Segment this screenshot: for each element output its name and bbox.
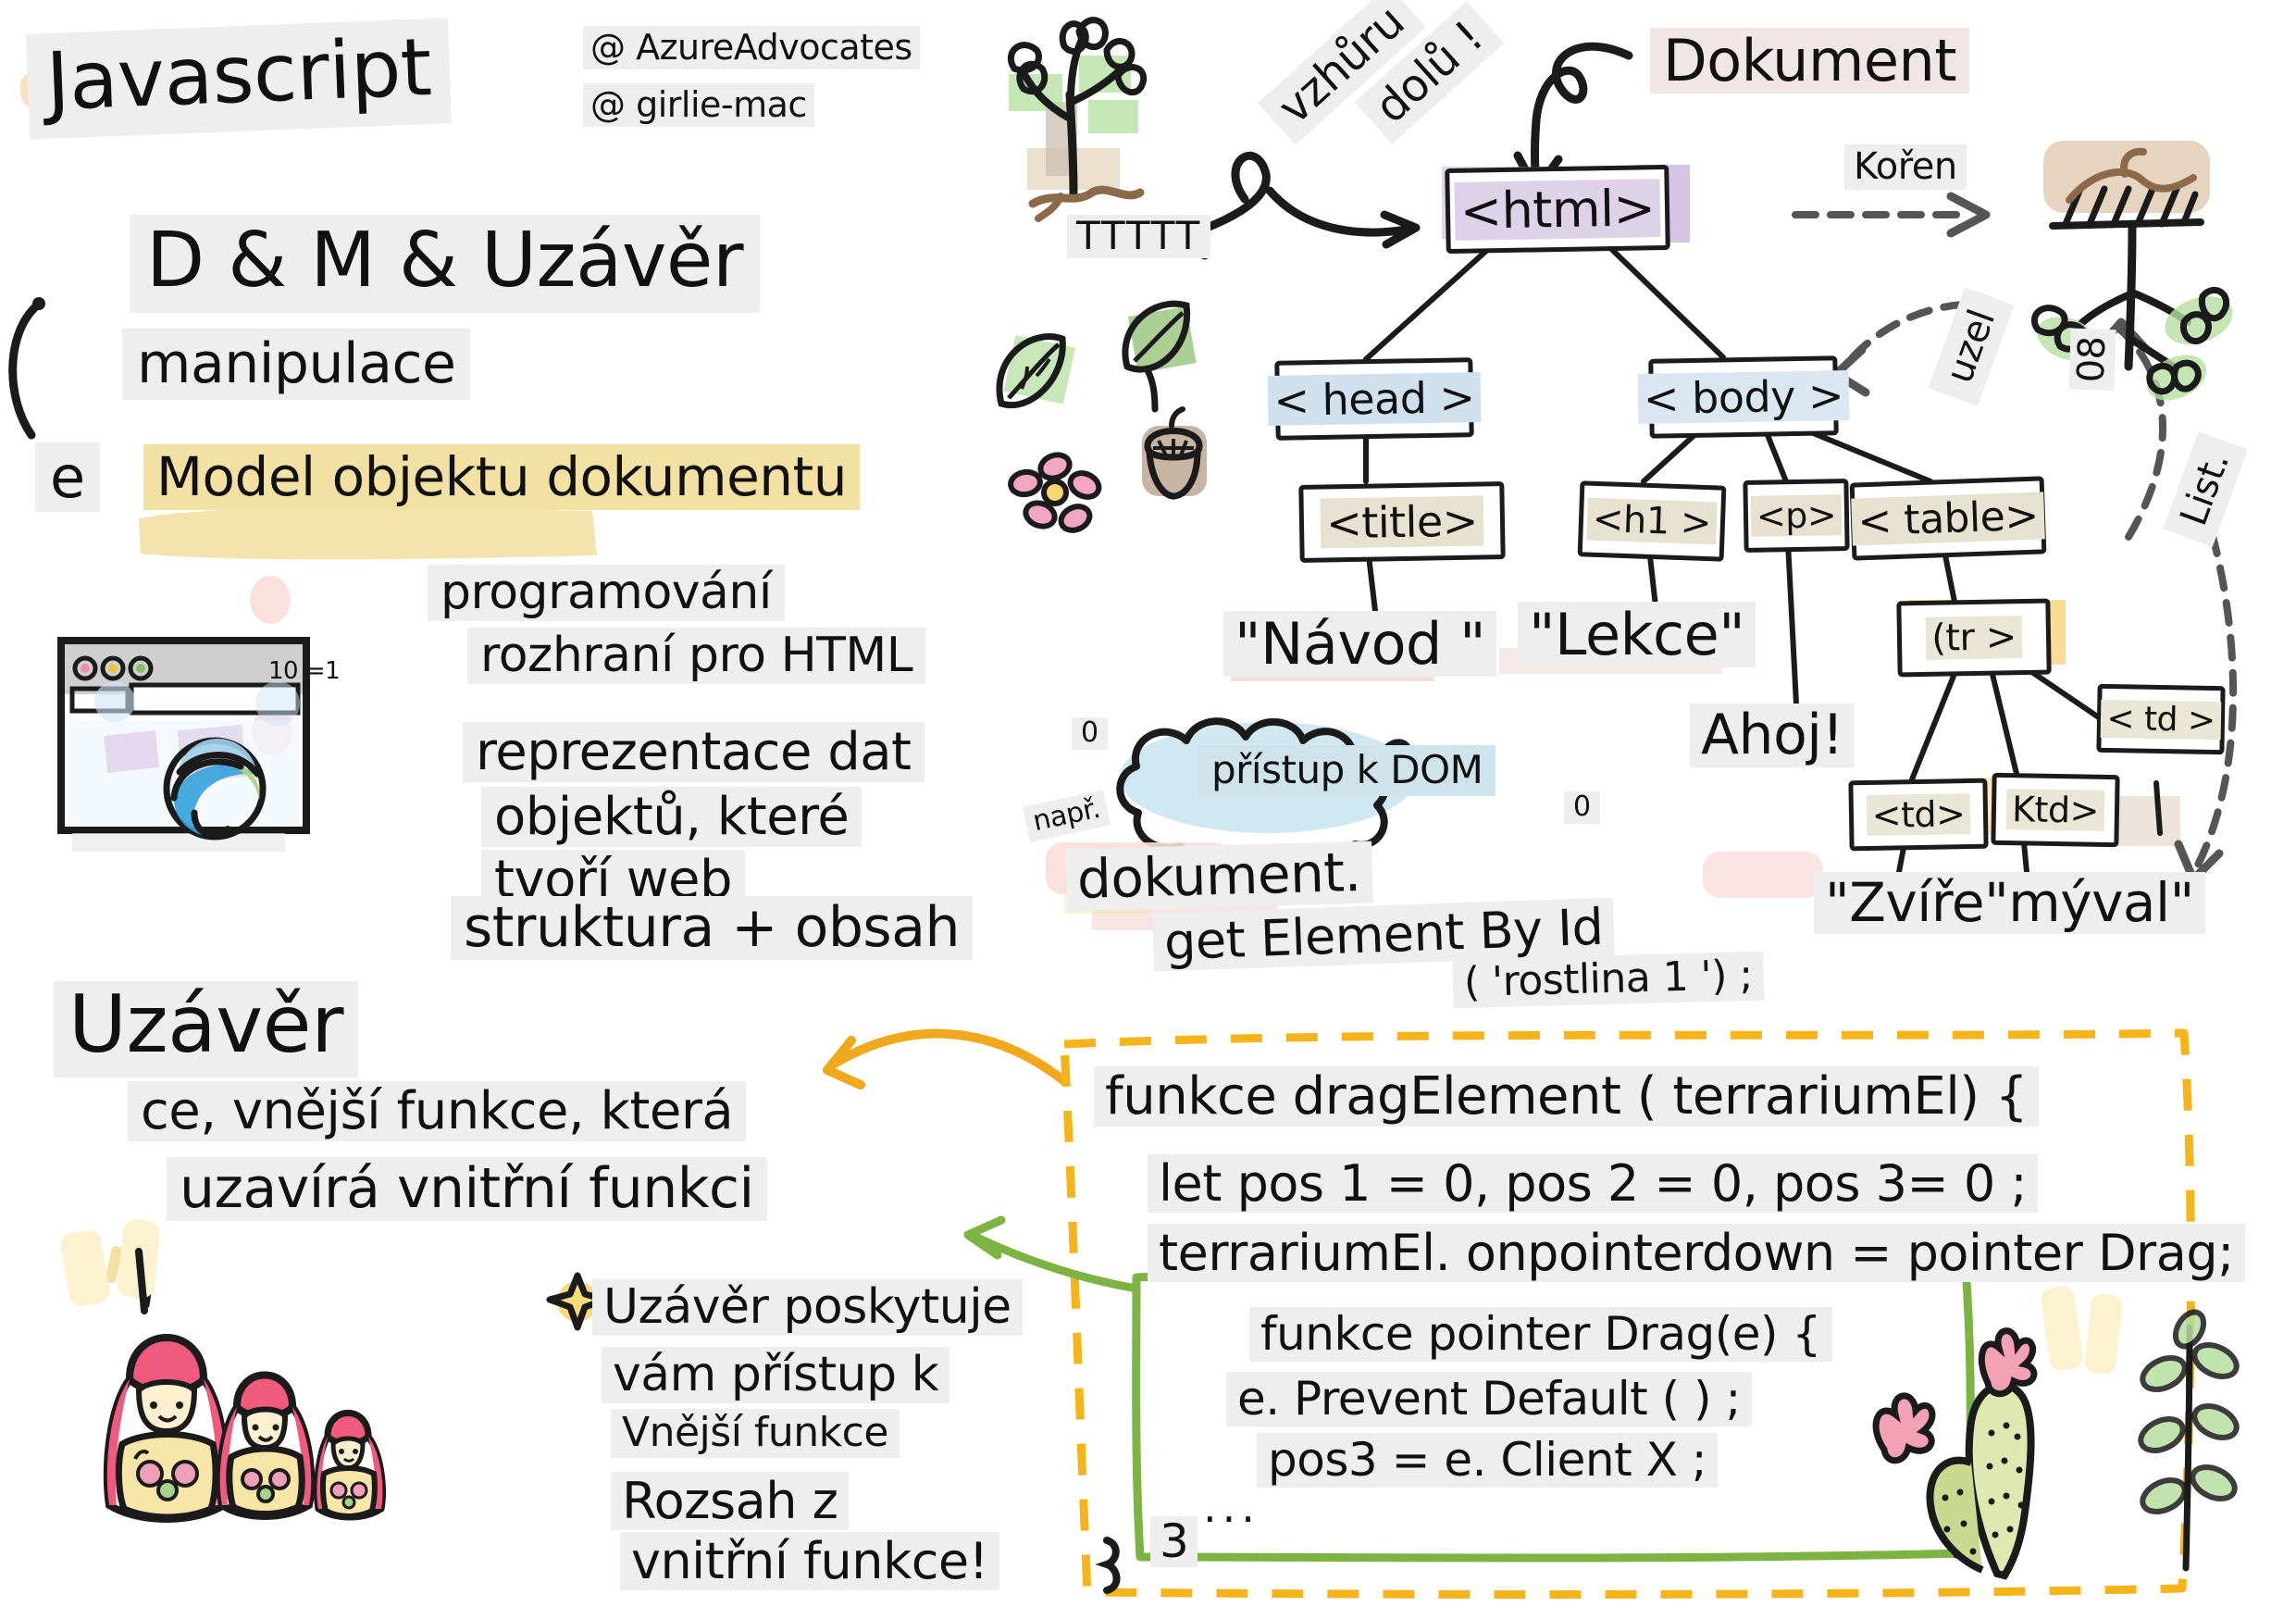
tree-node-td-right[interactable]: < td > [2096, 684, 2225, 754]
code-line-2: let pos 1 = 0, pos 2 = 0, pos 3= 0 ; [1148, 1154, 2038, 1213]
tree-node-td-left-label: <td> [1866, 793, 1970, 836]
browser-url-value: 10 =1 [268, 659, 340, 684]
text-layer: Javascript @ AzureAdvocates @ girlie-mac… [0, 0, 2296, 1619]
code-line-3: terrariumEl. onpointerdown = pointer Dra… [1148, 1224, 2245, 1282]
tree-node-html-label: <html> [1454, 179, 1661, 241]
code-line-ellipsis: ... [1203, 1486, 1260, 1529]
note-objektu: objektů, které [481, 787, 862, 847]
code-line-6: pos3 = e. Client X ; [1257, 1433, 1718, 1488]
label-napr: např. [1023, 790, 1111, 841]
tree-node-tr-label: (tr > [1926, 616, 2022, 660]
tree-node-p[interactable]: <p> [1743, 479, 1849, 553]
closure-line1: ce, vnější funkce, která [128, 1081, 746, 1141]
tree-node-head-label: < head > [1268, 372, 1481, 426]
tree-node-h1-label: <h1 > [1586, 498, 1718, 545]
tree-node-table[interactable]: < table> [1850, 476, 2047, 560]
tree-node-title-label: <title> [1321, 495, 1483, 548]
highlight-dom-title: Model objektu dokumentu [143, 444, 860, 510]
cloud-label-dom-access: přístup k DOM [1198, 745, 1496, 796]
zero-marker-right: 0 [1564, 791, 1600, 824]
bullet-e: e [35, 442, 100, 512]
code-line-8: 3 [1150, 1516, 1198, 1567]
closure-star-line: Uzávěr poskytuje [592, 1279, 1023, 1336]
subtitle-line3: manipulace [122, 329, 470, 400]
tree-node-td-right-label: < td > [2101, 699, 2221, 739]
tree-node-h1[interactable]: <h1 > [1578, 480, 1727, 561]
note-struktura-obsah: struktura + obsah [451, 896, 973, 960]
text-navod: "Návod " [1223, 611, 1496, 677]
text-zvire-myval: "Zvíře"mýval" [1814, 872, 2205, 934]
tree-node-td-mid-label: Ktd> [2006, 789, 2105, 831]
tree-node-tr[interactable]: (tr > [1896, 599, 2051, 678]
label-08: 08 [2068, 329, 2116, 392]
plant-label-ttttt: TTTTT [1067, 215, 1210, 258]
text-ahoj: Ahoj! [1690, 704, 1855, 767]
text-lekce: "Lekce" [1518, 602, 1756, 667]
tree-node-head[interactable]: < head > [1274, 357, 1473, 441]
tree-node-html[interactable]: <html> [1445, 165, 1670, 254]
tree-node-table-label: < table> [1852, 492, 2045, 545]
tree-node-body[interactable]: < body > [1648, 355, 1838, 439]
tree-node-body-label: < body > [1637, 370, 1849, 424]
label-uzel: uzel [1929, 287, 2015, 406]
closure-heading: Uzávěr [54, 981, 358, 1077]
note-rozhrani: rozhraní pro HTML [467, 628, 925, 684]
code-rostlina-arg: ( 'rostlina 1 ') ; [1452, 952, 1764, 1009]
code-line-4: funkce pointer Drag(e) { [1249, 1307, 1832, 1362]
tree-node-title[interactable]: <title> [1298, 481, 1505, 563]
note-programovani: programování [428, 565, 785, 621]
closure-line4: Vnější funkce [611, 1409, 900, 1458]
closure-line5: Rozsah z [611, 1472, 849, 1530]
page-title: Javascript [26, 18, 452, 139]
label-koren: Kořen [1844, 144, 1967, 190]
tree-node-td-left[interactable]: <td> [1848, 778, 1988, 852]
closure-line2: uzavírá vnitřní funkci [167, 1157, 767, 1221]
label-list: List. [2163, 431, 2248, 547]
closure-line3: vám přístup k [602, 1347, 949, 1403]
closure-line6: vnitřní funkce! [620, 1532, 999, 1590]
credit-girlie: @ girlie-mac [583, 83, 814, 127]
code-line-1: funkce dragElement ( terrariumEl) { [1094, 1066, 2039, 1127]
code-line-5: e. Prevent Default ( ) ; [1226, 1372, 1752, 1426]
credit-azure: @ AzureAdvocates [583, 26, 920, 69]
tree-node-p-label: <p> [1750, 494, 1842, 537]
note-reprezentace: reprezentace dat [463, 722, 925, 782]
label-dokument: Dokument [1650, 28, 1969, 93]
tree-node-td-mid[interactable]: Ktd> [1991, 773, 2119, 847]
code-document: dokument. [1065, 841, 1372, 912]
zero-marker-left: 0 [1072, 717, 1108, 750]
page-subtitle: D & M & Uzávěr [130, 215, 760, 313]
